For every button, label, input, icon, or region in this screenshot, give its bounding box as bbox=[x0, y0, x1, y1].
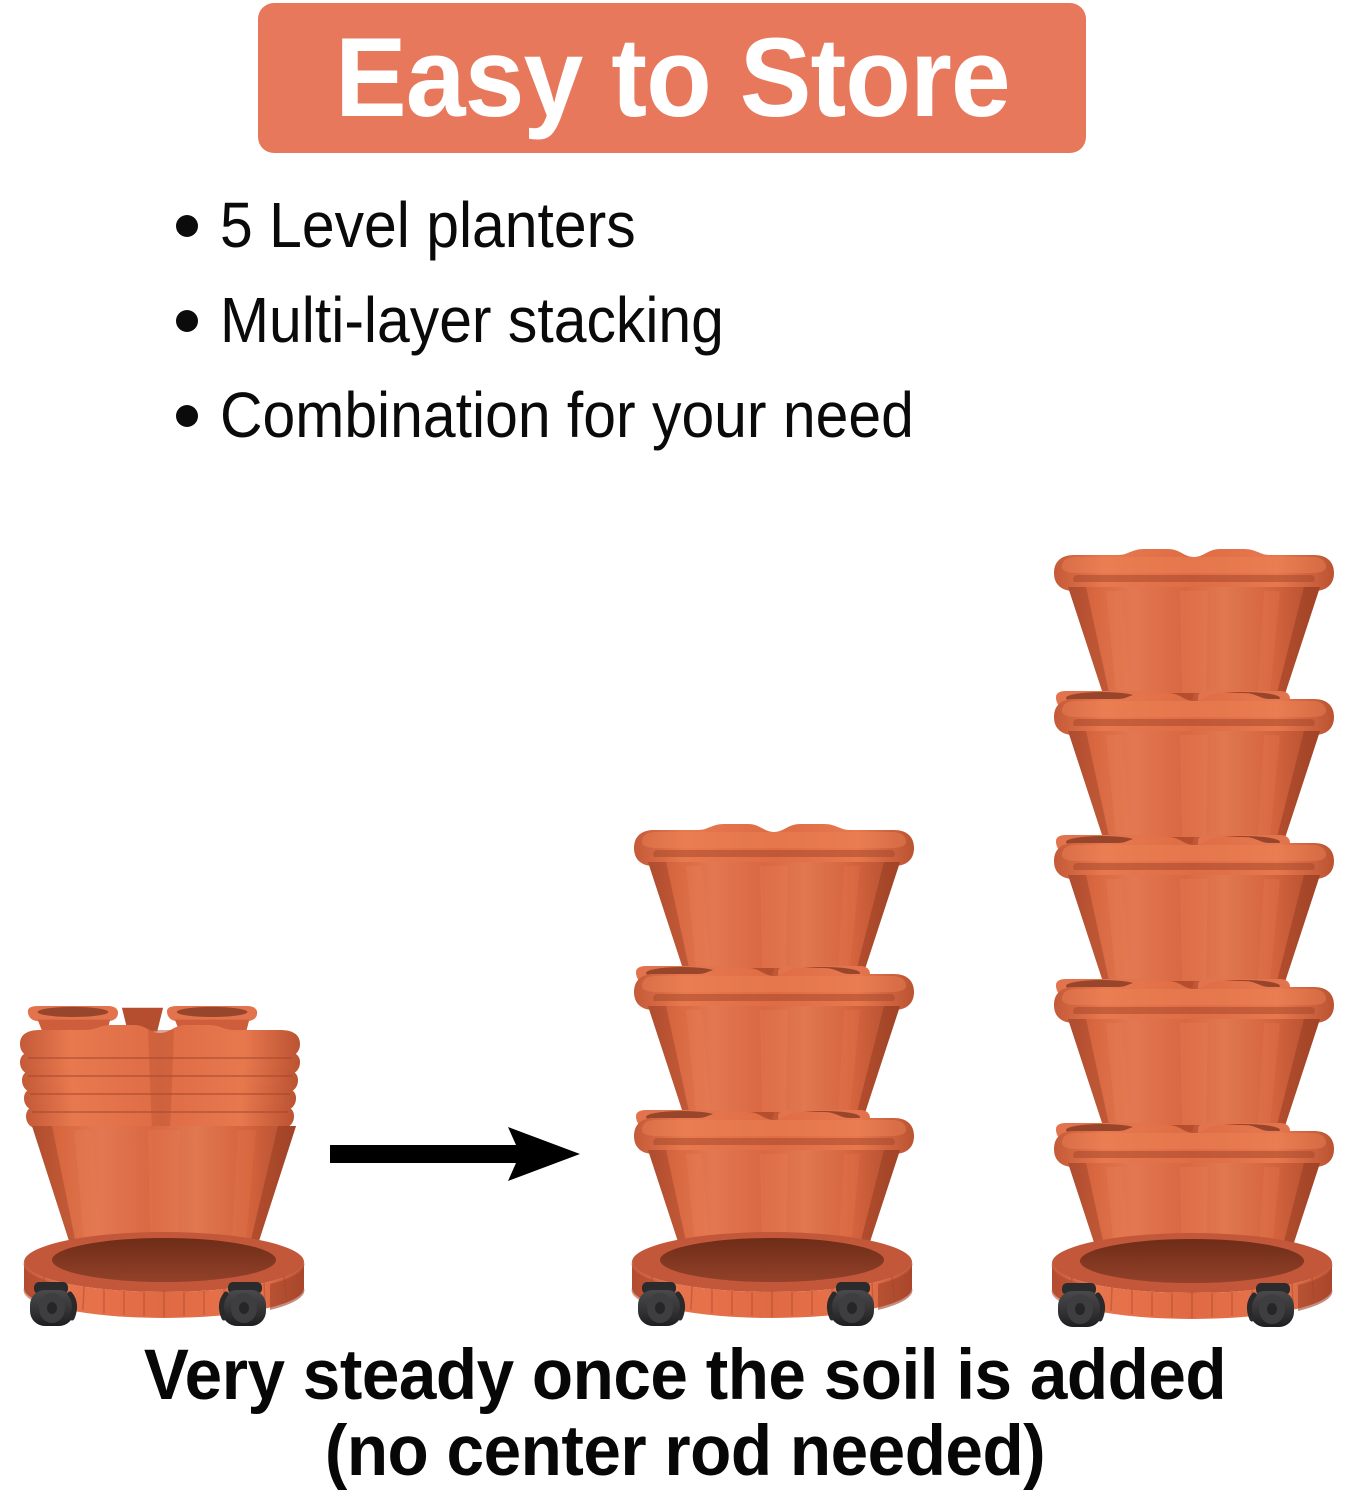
bullet-dot-icon bbox=[176, 405, 198, 427]
planter-tier bbox=[634, 968, 914, 1124]
feature-label: Combination for your need bbox=[220, 382, 914, 449]
header-banner: Easy to Store bbox=[258, 3, 1086, 153]
list-item: Multi-layer stacking bbox=[176, 287, 1296, 354]
caster-wheel bbox=[1249, 1283, 1294, 1327]
nested-rims bbox=[20, 1006, 300, 1132]
caster-wheel bbox=[638, 1282, 683, 1326]
three-tier-illustration bbox=[612, 820, 932, 1320]
list-item: Combination for your need bbox=[176, 382, 1296, 449]
planter-tier bbox=[1054, 549, 1334, 705]
caption-line-1: Very steady once the soil is added bbox=[34, 1338, 1336, 1414]
transform-arrow-icon bbox=[330, 1123, 580, 1185]
five-tier-illustration bbox=[1032, 545, 1352, 1320]
product-collapsed-stack bbox=[4, 1000, 324, 1320]
bullet-dot-icon bbox=[176, 310, 198, 332]
product-three-tier-stack bbox=[612, 820, 932, 1320]
collapsed-stack-illustration bbox=[4, 1000, 324, 1320]
caster-wheel bbox=[221, 1282, 266, 1326]
product-scene bbox=[0, 520, 1370, 1320]
feature-label: 5 Level planters bbox=[220, 192, 636, 259]
planter-tier bbox=[1054, 693, 1334, 849]
caption-block: Very steady once the soil is added (no c… bbox=[0, 1338, 1370, 1490]
page-title: Easy to Store bbox=[335, 22, 1010, 134]
caster-wheel bbox=[829, 1282, 874, 1326]
planter-tier bbox=[1054, 981, 1334, 1137]
caster-wheel bbox=[30, 1282, 75, 1326]
feature-list: 5 Level planters Multi-layer stacking Co… bbox=[176, 192, 1296, 478]
feature-label: Multi-layer stacking bbox=[220, 287, 724, 354]
planter-tier bbox=[634, 824, 914, 980]
outer-planter-body bbox=[32, 1126, 296, 1244]
caption-line-2: (no center rod needed) bbox=[34, 1414, 1336, 1490]
list-item: 5 Level planters bbox=[176, 192, 1296, 259]
planter-tier bbox=[1054, 837, 1334, 993]
caster-wheel bbox=[1058, 1283, 1103, 1327]
bullet-dot-icon bbox=[176, 215, 198, 237]
product-five-tier-stack bbox=[1032, 545, 1352, 1320]
